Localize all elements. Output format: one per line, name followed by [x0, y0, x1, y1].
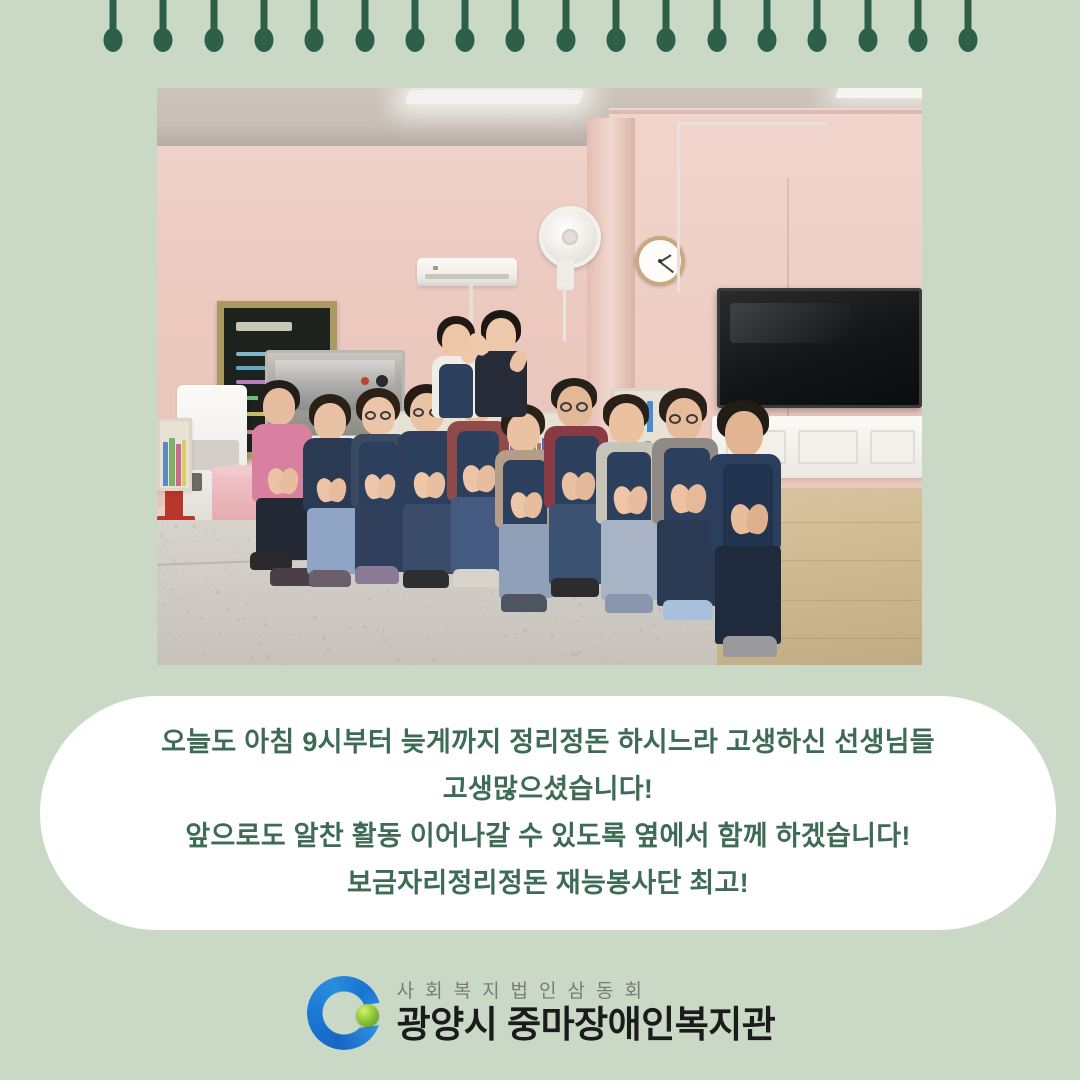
- floor-speck: [316, 640, 318, 642]
- floor-speck: [185, 656, 187, 658]
- floor-speck: [680, 622, 682, 624]
- floor-speck: [551, 601, 553, 603]
- floor-speck: [298, 633, 300, 635]
- floor-speck: [230, 575, 233, 578]
- floor-speck: [478, 654, 481, 657]
- floor-speck: [172, 529, 174, 531]
- floor-speck: [297, 565, 299, 567]
- floor-speck: [282, 663, 285, 665]
- floor-speck: [245, 603, 249, 607]
- floor-speck: [302, 620, 303, 621]
- floor-speck: [165, 539, 168, 542]
- floor-speck: [257, 570, 260, 573]
- floor-speck: [241, 568, 242, 569]
- caption-line-4: 보금자리정리정돈 재능봉사단 최고!: [161, 860, 935, 907]
- floor-speck: [630, 637, 631, 638]
- floor-speck: [171, 542, 174, 545]
- floor-speck: [491, 591, 495, 595]
- floor-speck: [275, 591, 276, 592]
- floor-speck: [439, 610, 442, 613]
- floor-speck: [533, 659, 535, 661]
- logo-ring-icon: [305, 974, 383, 1052]
- floor-speck: [504, 635, 508, 639]
- floor-speck: [621, 660, 624, 663]
- floor-speck: [326, 607, 329, 610]
- tv-wire: [677, 122, 827, 125]
- floor-speck: [411, 630, 412, 631]
- floor-speck: [226, 608, 229, 611]
- floor-speck: [507, 641, 510, 644]
- floor-speck: [163, 604, 165, 606]
- floor-speck: [254, 624, 257, 627]
- floor-speck: [708, 630, 711, 633]
- floor-speck: [349, 627, 352, 630]
- floor-speck: [183, 617, 187, 621]
- floor-speck: [600, 632, 603, 635]
- floor-speck: [575, 653, 579, 657]
- floor-speck: [290, 632, 293, 635]
- floor-speck: [213, 533, 216, 536]
- floor-speck: [379, 642, 382, 645]
- floor-speck: [480, 632, 481, 633]
- floor-speck: [159, 642, 161, 644]
- floor-speck: [467, 651, 469, 653]
- floor-speck: [601, 650, 602, 651]
- floor-speck: [427, 605, 431, 609]
- floor-speck: [664, 660, 667, 663]
- floor-speck: [604, 655, 608, 659]
- floor-speck: [442, 663, 444, 665]
- floor-speck: [161, 523, 164, 526]
- floor-speck: [581, 615, 584, 618]
- floor-speck: [231, 571, 234, 574]
- air-conditioner-icon: [417, 258, 517, 286]
- floor-speck: [389, 636, 392, 639]
- floor-speck: [578, 603, 582, 607]
- floor-speck: [301, 592, 302, 593]
- floor-speck: [217, 539, 220, 542]
- floor-speck: [199, 642, 200, 643]
- binder-rings: [0, 0, 1080, 60]
- floor-speck: [221, 604, 223, 606]
- floor-speck: [183, 631, 185, 633]
- floor-speck: [249, 537, 250, 538]
- floor-speck: [450, 601, 452, 603]
- floor-speck: [368, 598, 370, 600]
- floor-speck: [652, 624, 656, 628]
- floor-speck: [171, 588, 174, 591]
- floor-speck: [406, 659, 407, 660]
- floor-speck: [348, 621, 349, 622]
- floor-speck: [409, 664, 413, 665]
- floor-speck: [588, 629, 590, 631]
- floor-speck: [167, 558, 169, 560]
- logo-green-dot-icon: [356, 1004, 379, 1027]
- floor-speck: [399, 587, 402, 590]
- floor-speck: [322, 637, 325, 640]
- floor-speck: [164, 628, 165, 629]
- caption-line-2: 고생많으셨습니다!: [161, 766, 935, 813]
- floor-speck: [562, 653, 565, 656]
- floor-speck: [458, 609, 459, 610]
- floor-speck: [372, 635, 373, 636]
- floor-speck: [203, 652, 205, 654]
- television-icon: [717, 288, 922, 408]
- floor-speck: [190, 574, 191, 575]
- floor-speck: [174, 524, 178, 528]
- floor-speck: [515, 633, 517, 635]
- floor-speck: [562, 605, 563, 606]
- floor-speck: [192, 524, 196, 528]
- floor-speck: [452, 624, 454, 626]
- floor-speck: [226, 537, 228, 539]
- floor-speck: [159, 550, 162, 553]
- floor-speck: [166, 632, 169, 635]
- floor-speck: [523, 629, 527, 633]
- floor-speck: [396, 658, 400, 662]
- floor-speck: [383, 639, 387, 643]
- floor-speck: [247, 534, 248, 535]
- floor-speck: [377, 619, 379, 621]
- floor-speck: [247, 539, 250, 542]
- floor-speck: [258, 634, 259, 635]
- floor-speck: [207, 613, 210, 616]
- floor-speck: [200, 617, 203, 620]
- floor-speck: [245, 590, 247, 592]
- floor-speck: [403, 595, 404, 596]
- floor-speck: [474, 609, 476, 611]
- floor-speck: [203, 640, 207, 644]
- floor-speck: [237, 524, 240, 527]
- floor-speck: [696, 646, 697, 647]
- floor-speck: [173, 569, 177, 573]
- floor-speck: [218, 547, 219, 548]
- floor-speck: [313, 616, 316, 619]
- floor-speck: [255, 646, 256, 647]
- floor-speck: [569, 620, 572, 623]
- floor-speck: [595, 646, 598, 649]
- floor-speck: [364, 588, 365, 589]
- fan-cord: [563, 286, 566, 341]
- floor-speck: [608, 637, 610, 639]
- floor-speck: [387, 588, 389, 590]
- floor-speck: [159, 590, 162, 593]
- floor-speck: [282, 652, 283, 653]
- floor-speck: [265, 640, 266, 641]
- floor-speck: [199, 661, 201, 663]
- floor-speck: [174, 638, 178, 642]
- floor-speck: [176, 589, 177, 590]
- floor-speck: [406, 648, 409, 651]
- floor-speck: [699, 648, 701, 650]
- floor-speck: [554, 617, 557, 620]
- floor-speck: [449, 603, 451, 605]
- logo-subtitle: 사회복지법인삼동회: [397, 980, 776, 1004]
- floor-speck: [213, 528, 215, 530]
- ceiling-light-icon: [835, 88, 922, 98]
- floor-speck: [229, 536, 233, 540]
- floor-speck: [178, 532, 180, 534]
- tv-wire: [677, 122, 680, 292]
- floor-speck: [373, 651, 375, 653]
- floor-speck: [582, 605, 585, 608]
- group-photo: [157, 88, 922, 665]
- floor-speck: [327, 648, 331, 652]
- floor-speck: [287, 634, 290, 637]
- floor-speck: [253, 633, 255, 635]
- floor-speck: [647, 625, 649, 627]
- floor-speck: [550, 634, 554, 638]
- floor-speck: [177, 596, 180, 599]
- floor-speck: [481, 659, 483, 661]
- floor-speck: [382, 630, 385, 633]
- floor-speck: [680, 627, 683, 630]
- floor-speck: [216, 590, 220, 594]
- floor-speck: [388, 619, 389, 620]
- floor-speck: [342, 622, 346, 626]
- floor-speck: [195, 535, 197, 537]
- floor-speck: [333, 622, 334, 623]
- floor-speck: [440, 636, 444, 640]
- floor-speck: [622, 642, 625, 645]
- floor-speck: [363, 625, 367, 629]
- floor-speck: [218, 632, 221, 635]
- caption-card: 오늘도 아침 9시부터 늦게까지 정리정돈 하시느라 고생하신 선생님들 고생많…: [40, 696, 1056, 930]
- floor-speck: [343, 655, 347, 659]
- floor-speck: [264, 623, 267, 626]
- wall-seam: [609, 110, 922, 114]
- floor-speck: [658, 608, 662, 612]
- floor-speck: [240, 592, 243, 595]
- floor-speck: [304, 648, 307, 651]
- floor-speck: [350, 613, 353, 616]
- floor-speck: [441, 648, 444, 651]
- bookshelf-icon: [157, 418, 192, 491]
- floor-speck: [675, 656, 676, 657]
- floor-speck: [243, 623, 244, 624]
- floor-speck: [549, 631, 551, 633]
- floor-speck: [639, 628, 643, 632]
- floor-speck: [586, 644, 588, 646]
- floor-speck: [573, 628, 574, 629]
- floor-speck: [483, 598, 484, 599]
- caption-line-3: 앞으로도 알찬 활동 이어나갈 수 있도록 옆에서 함께 하겠습니다!: [161, 813, 935, 860]
- floor-speck: [267, 655, 271, 659]
- floor-speck: [238, 541, 239, 542]
- floor-speck: [162, 545, 164, 547]
- logo-title: 광양시 중마장애인복지관: [397, 1004, 776, 1047]
- caption-line-1: 오늘도 아침 9시부터 늦게까지 정리정돈 하시느라 고생하신 선생님들: [161, 719, 935, 766]
- floor-speck: [323, 613, 324, 614]
- floor-speck: [233, 558, 236, 561]
- floor-speck: [290, 628, 292, 630]
- floor-speck: [293, 656, 296, 659]
- floor-speck: [426, 635, 430, 639]
- floor-speck: [454, 607, 456, 609]
- floor-speck: [499, 646, 500, 647]
- floor-speck: [585, 634, 587, 636]
- floor-speck: [454, 656, 455, 657]
- floor-speck: [306, 591, 309, 594]
- floor-speck: [216, 620, 218, 622]
- floor-speck: [436, 651, 439, 654]
- floor-speck: [185, 610, 189, 614]
- floor-speck: [640, 644, 643, 647]
- floor-speck: [473, 622, 474, 623]
- floor-speck: [250, 656, 253, 659]
- floor-speck: [237, 619, 240, 622]
- organization-logo: 사회복지법인삼동회 광양시 중마장애인복지관: [0, 958, 1080, 1068]
- floor-speck: [376, 629, 379, 632]
- floor-speck: [265, 580, 267, 582]
- floor-speck: [259, 644, 261, 646]
- floor-speck: [276, 636, 277, 637]
- floor-speck: [598, 664, 599, 665]
- floor-speck: [461, 618, 463, 620]
- floor-speck: [205, 578, 208, 581]
- wall-fan-icon: [539, 206, 601, 268]
- floor-speck: [234, 544, 237, 547]
- floor-speck: [571, 653, 574, 656]
- floor-speck: [674, 629, 676, 631]
- floor-speck: [377, 603, 379, 605]
- floor-speck: [446, 624, 448, 626]
- floor-speck: [588, 616, 589, 617]
- floor-speck: [465, 617, 467, 619]
- floor-speck: [204, 529, 207, 532]
- floor-speck: [215, 588, 217, 590]
- floor-speck: [674, 623, 675, 624]
- floor-speck: [190, 621, 192, 623]
- floor-speck: [350, 604, 351, 605]
- floor-speck: [158, 566, 162, 570]
- floor-speck: [330, 609, 331, 610]
- floor-speck: [207, 587, 210, 590]
- floor-speck: [232, 650, 235, 653]
- floor-speck: [309, 606, 311, 608]
- floor-speck: [200, 592, 203, 595]
- floor-speck: [446, 631, 449, 634]
- floor-speck: [432, 658, 435, 661]
- floor-speck: [565, 643, 566, 644]
- floor-speck: [160, 534, 164, 538]
- floor-speck: [650, 628, 652, 630]
- ceiling-light-icon: [405, 90, 585, 104]
- floor-speck: [575, 620, 579, 624]
- book-row: [163, 424, 186, 486]
- floor-speck: [457, 618, 459, 620]
- floor-speck: [239, 652, 242, 655]
- floor-speck: [463, 649, 466, 652]
- floor-speck: [479, 607, 482, 610]
- floor-speck: [263, 592, 264, 593]
- floor-speck: [208, 595, 210, 597]
- floor-speck: [158, 581, 162, 585]
- caption-text: 오늘도 아침 9시부터 늦게까지 정리정돈 하시느라 고생하신 선생님들 고생많…: [161, 719, 935, 907]
- floor-speck: [174, 583, 175, 584]
- floor-speck: [553, 605, 556, 608]
- floor-speck: [313, 656, 315, 658]
- floor-speck: [243, 618, 246, 621]
- floor-speck: [705, 653, 707, 655]
- floor-speck: [655, 637, 659, 641]
- floor-speck: [603, 603, 605, 605]
- logo-text-block: 사회복지법인삼동회 광양시 중마장애인복지관: [397, 980, 776, 1046]
